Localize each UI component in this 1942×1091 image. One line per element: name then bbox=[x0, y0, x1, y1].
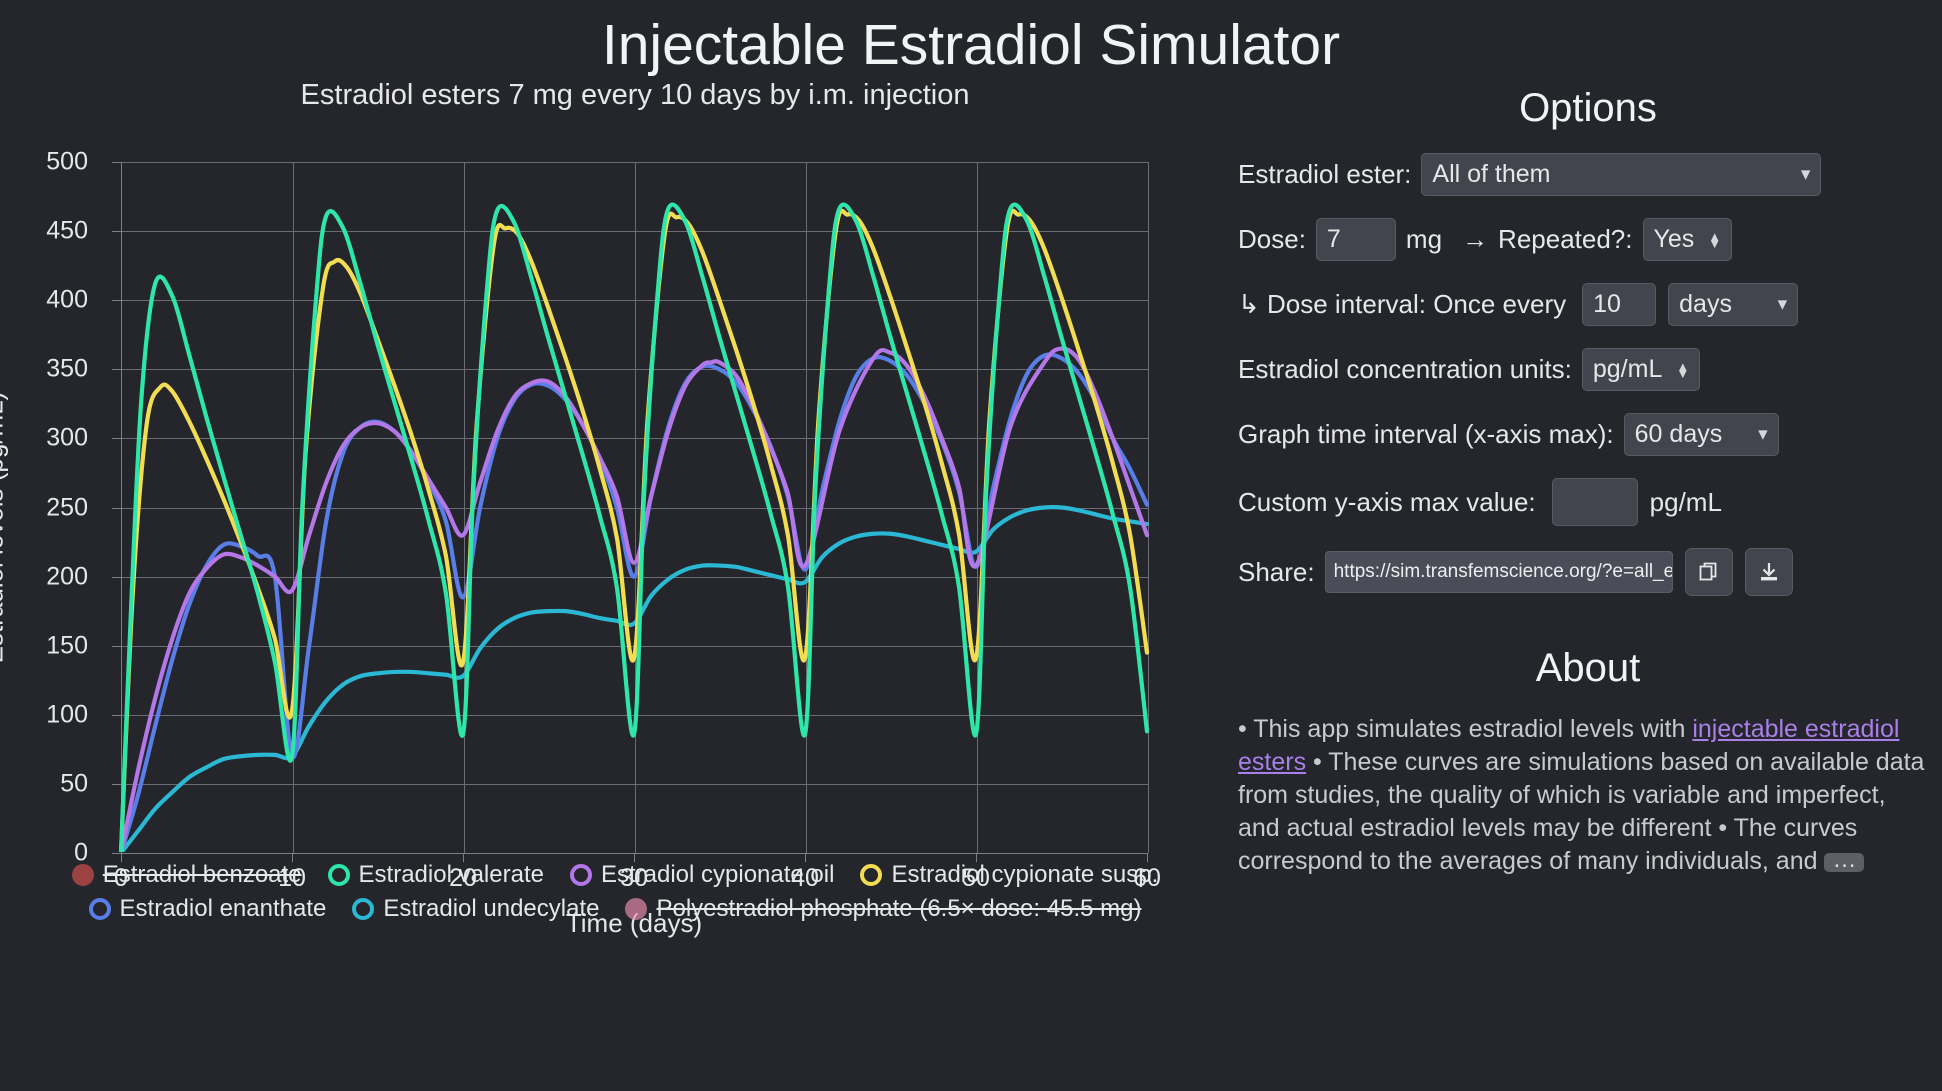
chevron-down-icon: ▾ bbox=[1778, 295, 1788, 314]
dose-unit: mg bbox=[1406, 224, 1442, 255]
series-line bbox=[121, 354, 1147, 852]
series-curves bbox=[0, 112, 1230, 852]
about-text-part2: • These curves are simulations based on … bbox=[1238, 748, 1924, 875]
x-tick-label: 50 bbox=[962, 864, 990, 893]
arrow-right-icon: → bbox=[1462, 224, 1488, 255]
plot-wrapper: Estradiol levels (pg/mL) Time (days) 050… bbox=[0, 112, 1230, 852]
repeated-select[interactable]: Yes ▲▼ bbox=[1643, 218, 1733, 261]
app-root: Injectable Estradiol Simulator Estradiol… bbox=[0, 0, 1942, 1091]
x-tick-mark bbox=[976, 853, 977, 862]
expand-about-button[interactable]: … bbox=[1824, 853, 1864, 872]
legend-color-dot bbox=[72, 864, 94, 886]
interval-unit-value: days bbox=[1679, 290, 1732, 319]
option-row-time-interval: Graph time interval (x-axis max): 60 day… bbox=[1238, 413, 1938, 456]
stepper-icon: ▲▼ bbox=[1708, 233, 1721, 247]
x-tick-label: 0 bbox=[114, 864, 128, 893]
legend-color-dot bbox=[328, 864, 350, 886]
chart-title: Estradiol esters 7 mg every 10 days by i… bbox=[0, 78, 1230, 112]
interval-label: ↳ Dose interval: Once every bbox=[1238, 289, 1566, 320]
x-tick-mark bbox=[292, 853, 293, 862]
time-interval-label: Graph time interval (x-axis max): bbox=[1238, 419, 1614, 450]
chevron-down-icon: ▾ bbox=[1801, 165, 1811, 184]
download-icon-button[interactable] bbox=[1745, 548, 1793, 596]
ymax-unit: pg/mL bbox=[1650, 487, 1722, 518]
x-tick-mark bbox=[121, 853, 122, 862]
download-icon bbox=[1757, 560, 1781, 584]
legend-color-dot bbox=[860, 864, 882, 886]
share-label: Share: bbox=[1238, 557, 1315, 588]
main-content: Estradiol esters 7 mg every 10 days by i… bbox=[0, 78, 1942, 926]
ester-label: Estradiol ester: bbox=[1238, 159, 1411, 190]
option-row-share: Share: https://sim.transfemscience.org/?… bbox=[1238, 548, 1938, 596]
x-tick-mark bbox=[463, 853, 464, 862]
x-tick-label: 10 bbox=[278, 864, 306, 893]
x-tick-label: 30 bbox=[620, 864, 648, 893]
ymax-label: Custom y-axis max value: bbox=[1238, 487, 1536, 518]
about-heading: About bbox=[1238, 618, 1938, 713]
series-line bbox=[121, 507, 1147, 852]
page-title: Injectable Estradiol Simulator bbox=[0, 0, 1942, 78]
ester-select[interactable]: All of them ▾ bbox=[1421, 153, 1821, 196]
share-url-input[interactable]: https://sim.transfemscience.org/?e=all_e bbox=[1325, 551, 1673, 593]
chevron-down-icon: ▾ bbox=[1758, 425, 1768, 444]
ymax-input[interactable] bbox=[1552, 478, 1638, 526]
stepper-icon: ▲▼ bbox=[1676, 363, 1689, 377]
x-tick-mark bbox=[1147, 853, 1148, 862]
dose-label: Dose: bbox=[1238, 224, 1306, 255]
time-interval-value: 60 days bbox=[1635, 420, 1723, 449]
copy-icon-button[interactable] bbox=[1685, 548, 1733, 596]
legend-row: Estradiol benzoateEstradiol valerateEstr… bbox=[0, 858, 1230, 892]
legend-item[interactable]: Estradiol cypionate susp. bbox=[860, 861, 1158, 889]
interval-unit-select[interactable]: days ▾ bbox=[1668, 283, 1798, 326]
repeated-select-value: Yes bbox=[1654, 225, 1695, 254]
y-tick-mark bbox=[112, 853, 121, 854]
option-row-units: Estradiol concentration units: pg/mL ▲▼ bbox=[1238, 348, 1938, 391]
legend-label: Estradiol benzoate bbox=[103, 861, 302, 889]
x-tick-mark bbox=[805, 853, 806, 862]
x-tick-mark bbox=[634, 853, 635, 862]
options-heading: Options bbox=[1238, 78, 1938, 153]
x-tick-label: 40 bbox=[791, 864, 819, 893]
option-row-ester: Estradiol ester: All of them ▾ bbox=[1238, 153, 1938, 196]
option-row-dose: Dose: 7 mg → Repeated?: Yes ▲▼ bbox=[1238, 218, 1938, 261]
repeated-label: Repeated?: bbox=[1498, 224, 1632, 255]
option-row-interval: ↳ Dose interval: Once every 10 days ▾ bbox=[1238, 283, 1938, 326]
legend-item[interactable]: Estradiol valerate bbox=[328, 861, 544, 889]
interval-input[interactable]: 10 bbox=[1582, 283, 1656, 326]
units-select[interactable]: pg/mL ▲▼ bbox=[1582, 348, 1700, 391]
legend-color-dot bbox=[570, 864, 592, 886]
legend-label: Estradiol cypionate susp. bbox=[891, 861, 1158, 889]
ester-select-value: All of them bbox=[1432, 160, 1550, 189]
x-tick-label: 60 bbox=[1133, 864, 1161, 893]
about-text: • This app simulates estradiol levels wi… bbox=[1238, 713, 1938, 878]
legend-color-dot bbox=[89, 898, 111, 920]
option-row-ymax: Custom y-axis max value: pg/mL bbox=[1238, 478, 1938, 526]
legend-item[interactable]: Estradiol benzoate bbox=[72, 861, 302, 889]
time-interval-select[interactable]: 60 days ▾ bbox=[1624, 413, 1779, 456]
options-panel: Options Estradiol ester: All of them ▾ D… bbox=[1230, 78, 1938, 878]
chart-panel: Estradiol esters 7 mg every 10 days by i… bbox=[0, 78, 1230, 926]
about-text-part1: • This app simulates estradiol levels wi… bbox=[1238, 715, 1692, 743]
copy-icon bbox=[1697, 560, 1721, 584]
units-label: Estradiol concentration units: bbox=[1238, 354, 1572, 385]
series-line bbox=[121, 349, 1147, 852]
units-select-value: pg/mL bbox=[1593, 355, 1662, 384]
x-tick-label: 20 bbox=[449, 864, 477, 893]
dose-input[interactable]: 7 bbox=[1316, 218, 1396, 261]
